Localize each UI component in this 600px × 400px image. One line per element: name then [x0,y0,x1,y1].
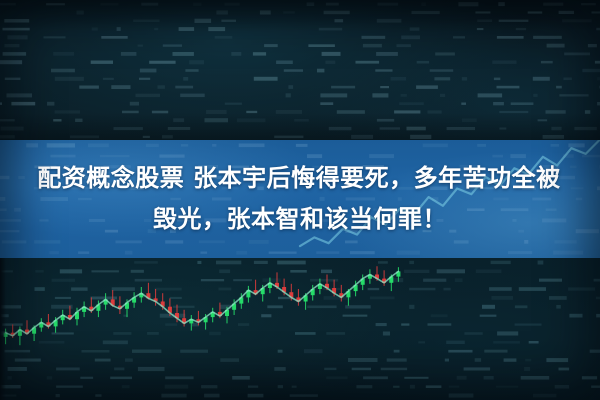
candlestick-chart [0,258,600,400]
candle-series [4,266,401,345]
left-edge-shadow [0,258,6,400]
candlestick-chart-panel [0,258,600,400]
headline-line-2: 毁光，张本智和该当何罪！ [153,199,447,240]
top-ticker-noise [0,0,600,141]
price-trend-line [6,271,399,335]
headline-line-1: 配资概念股票 张本宇后悔得要死，多年苦功全被 [37,158,560,199]
article-thumbnail: 配资概念股票 张本宇后悔得要死，多年苦功全被 毁光，张本智和该当何罪！ [0,0,600,400]
top-data-panel [0,0,600,141]
headline-text-block: 配资概念股票 张本宇后悔得要死，多年苦功全被 毁光，张本智和该当何罪！ [0,140,600,258]
headline-banner: 配资概念股票 张本宇后悔得要死，多年苦功全被 毁光，张本智和该当何罪！ [0,140,600,258]
